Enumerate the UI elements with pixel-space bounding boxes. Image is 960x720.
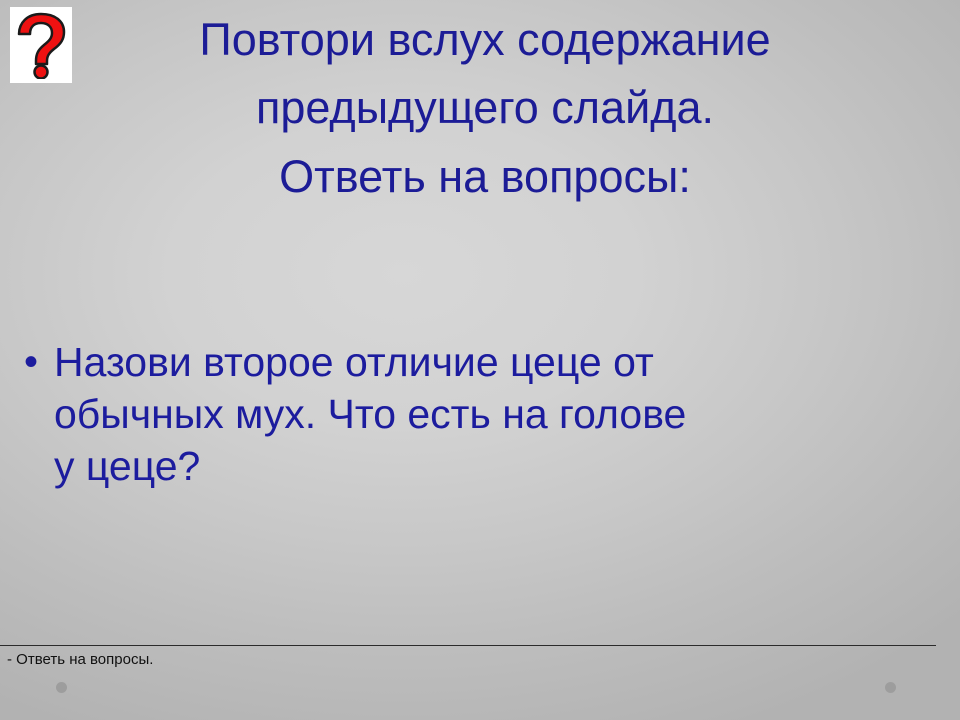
title-line-3: Ответь на вопросы: (60, 143, 910, 211)
footer-note: - Ответь на вопросы. (7, 650, 153, 670)
title-line-1: Повтори вслух содержание (60, 6, 910, 74)
slide-title: Повтори вслух содержание предыдущего сла… (60, 6, 910, 211)
footer-dot-left-icon (56, 682, 67, 693)
footer-divider (0, 645, 936, 646)
bullet-marker-icon: • (8, 336, 54, 388)
bullet-line-1: Назови второе отличие цеце от (54, 336, 952, 388)
bullet-line-3: у цеце? (54, 440, 952, 492)
slide-canvas: Повтори вслух содержание предыдущего сла… (0, 0, 960, 720)
title-line-2: предыдущего слайда. (60, 74, 910, 142)
bullet-line-2: обычных мух. Что есть на голове (54, 388, 952, 440)
bullet-text: Назови второе отличие цеце от обычных му… (54, 336, 952, 492)
footer-dot-right-icon (885, 682, 896, 693)
list-item: • Назови второе отличие цеце от обычных … (8, 336, 952, 492)
slide-body: • Назови второе отличие цеце от обычных … (8, 336, 952, 492)
